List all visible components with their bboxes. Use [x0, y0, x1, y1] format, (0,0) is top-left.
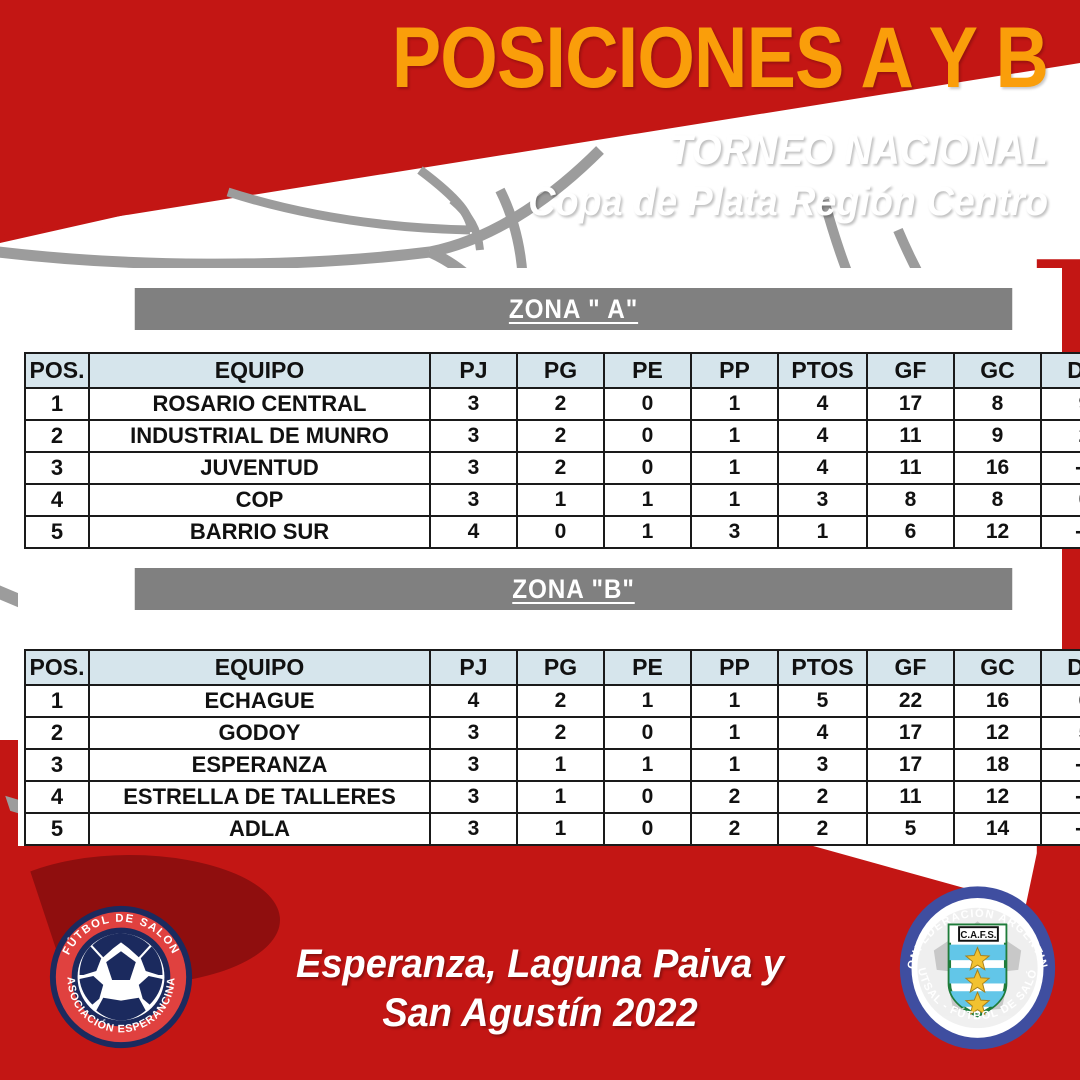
cell-pe: 0: [604, 388, 691, 420]
cell-pj: 3: [430, 781, 517, 813]
cell-pp: 1: [691, 452, 778, 484]
cell-pos: 3: [25, 452, 89, 484]
table-row: 4 COP 3 1 1 1 3 8 8 0: [25, 484, 1080, 516]
table-row: 2 GODOY 3 2 0 1 4 17 12 5: [25, 717, 1080, 749]
cell-pe: 0: [604, 452, 691, 484]
logo-right-shield-text: C.A.F.S.: [960, 930, 996, 941]
cell-pe: 0: [604, 813, 691, 845]
table-row: 4 ESTRELLA DE TALLERES 3 1 0 2 2 11 12 -…: [25, 781, 1080, 813]
cell-pe: 0: [604, 420, 691, 452]
cell-pp: 1: [691, 685, 778, 717]
cell-gc: 8: [954, 484, 1041, 516]
cell-gc: 12: [954, 717, 1041, 749]
page-title: POSICIONES A Y B: [392, 18, 1048, 100]
cell-ptos: 4: [778, 717, 867, 749]
cell-pos: 4: [25, 781, 89, 813]
col-header-team: EQUIPO: [89, 353, 430, 388]
cell-pos: 4: [25, 484, 89, 516]
cell-pe: 1: [604, 685, 691, 717]
col-header-pe: PE: [604, 353, 691, 388]
cell-team: ESPERANZA: [89, 749, 430, 781]
cell-pp: 3: [691, 516, 778, 548]
cell-pe: 1: [604, 749, 691, 781]
cell-pg: 1: [517, 484, 604, 516]
col-header-pj: PJ: [430, 650, 517, 685]
cell-pj: 3: [430, 484, 517, 516]
cell-pos: 5: [25, 516, 89, 548]
cell-ptos: 5: [778, 685, 867, 717]
table-row: 1 ECHAGUE 4 2 1 1 5 22 16 6: [25, 685, 1080, 717]
cell-pj: 3: [430, 813, 517, 845]
zone-b-header-row: POS. EQUIPO PJ PG PE PP PTOS GF GC DG: [25, 650, 1080, 685]
cell-ptos: 2: [778, 813, 867, 845]
cell-pp: 1: [691, 749, 778, 781]
cell-gc: 9: [954, 420, 1041, 452]
cell-gc: 14: [954, 813, 1041, 845]
cell-pos: 5: [25, 813, 89, 845]
table-row: 3 JUVENTUD 3 2 0 1 4 11 16 -5: [25, 452, 1080, 484]
cell-pos: 1: [25, 388, 89, 420]
cell-team: ECHAGUE: [89, 685, 430, 717]
cell-team: ESTRELLA DE TALLERES: [89, 781, 430, 813]
cell-ptos: 3: [778, 749, 867, 781]
cell-ptos: 1: [778, 516, 867, 548]
cell-team: COP: [89, 484, 430, 516]
col-header-pos: POS.: [25, 353, 89, 388]
cell-dg: 2: [1041, 420, 1080, 452]
cell-pg: 0: [517, 516, 604, 548]
zone-a-banner: ZONA " A": [135, 288, 1013, 330]
cell-pj: 4: [430, 685, 517, 717]
cell-gc: 12: [954, 781, 1041, 813]
col-header-team: EQUIPO: [89, 650, 430, 685]
cell-ptos: 4: [778, 452, 867, 484]
cell-team: JUVENTUD: [89, 452, 430, 484]
table-row: 1 ROSARIO CENTRAL 3 2 0 1 4 17 8 9: [25, 388, 1080, 420]
cell-pp: 2: [691, 813, 778, 845]
cell-pj: 3: [430, 717, 517, 749]
zone-b-banner: ZONA "B": [135, 568, 1013, 610]
cell-pg: 2: [517, 452, 604, 484]
cell-pos: 1: [25, 685, 89, 717]
cell-dg: -1: [1041, 781, 1080, 813]
cell-pg: 2: [517, 685, 604, 717]
cell-team: INDUSTRIAL DE MUNRO: [89, 420, 430, 452]
cell-pj: 3: [430, 749, 517, 781]
col-header-pp: PP: [691, 353, 778, 388]
cell-gf: 11: [867, 420, 954, 452]
table-row: 3 ESPERANZA 3 1 1 1 3 17 18 -1: [25, 749, 1080, 781]
cell-gc: 8: [954, 388, 1041, 420]
zone-b-table: POS. EQUIPO PJ PG PE PP PTOS GF GC DG 1 …: [24, 649, 1080, 846]
col-header-ptos: PTOS: [778, 353, 867, 388]
cell-ptos: 4: [778, 420, 867, 452]
cell-pos: 2: [25, 717, 89, 749]
zone-a-header-row: POS. EQUIPO PJ PG PE PP PTOS GF GC DG: [25, 353, 1080, 388]
footer-line-2: San Agustín 2022: [246, 989, 835, 1038]
cell-dg: -9: [1041, 813, 1080, 845]
cell-ptos: 4: [778, 388, 867, 420]
col-header-gf: GF: [867, 353, 954, 388]
cell-gf: 6: [867, 516, 954, 548]
cell-pg: 2: [517, 717, 604, 749]
cell-gf: 22: [867, 685, 954, 717]
cell-dg: 9: [1041, 388, 1080, 420]
cell-gc: 12: [954, 516, 1041, 548]
cell-dg: 5: [1041, 717, 1080, 749]
col-header-gc: GC: [954, 353, 1041, 388]
col-header-dg: DG: [1041, 353, 1080, 388]
cell-team: ADLA: [89, 813, 430, 845]
cell-pp: 1: [691, 388, 778, 420]
cell-pe: 0: [604, 717, 691, 749]
cell-gf: 17: [867, 749, 954, 781]
cell-team: ROSARIO CENTRAL: [89, 388, 430, 420]
cell-pe: 1: [604, 484, 691, 516]
cell-pp: 2: [691, 781, 778, 813]
cell-gf: 8: [867, 484, 954, 516]
poster-header: POSICIONES A Y B TORNEO NACIONAL Copa de…: [285, 18, 1048, 225]
cell-dg: -1: [1041, 749, 1080, 781]
table-row: 2 INDUSTRIAL DE MUNRO 3 2 0 1 4 11 9 2: [25, 420, 1080, 452]
cell-dg: 6: [1041, 685, 1080, 717]
standings-card: ZONA " A" POS. EQUIPO PJ PG PE PP PTOS G…: [18, 268, 1062, 846]
col-header-pg: PG: [517, 353, 604, 388]
cell-ptos: 3: [778, 484, 867, 516]
cell-gc: 16: [954, 452, 1041, 484]
cell-pe: 1: [604, 516, 691, 548]
cell-dg: 0: [1041, 484, 1080, 516]
asociacion-esperancina-logo: FÚTBOL DE SALON ASOCIACIÓN ESPERANCINA: [42, 896, 200, 1054]
col-header-gf: GF: [867, 650, 954, 685]
zone-a-table: POS. EQUIPO PJ PG PE PP PTOS GF GC DG 1 …: [24, 352, 1080, 549]
cell-gc: 18: [954, 749, 1041, 781]
table-row: 5 BARRIO SUR 4 0 1 3 1 6 12 -6: [25, 516, 1080, 548]
cell-pj: 3: [430, 420, 517, 452]
cell-pj: 4: [430, 516, 517, 548]
cell-pe: 0: [604, 781, 691, 813]
cell-pp: 1: [691, 717, 778, 749]
cell-pg: 2: [517, 420, 604, 452]
poster-root: POSICIONES A Y B TORNEO NACIONAL Copa de…: [0, 0, 1080, 1080]
col-header-dg: DG: [1041, 650, 1080, 685]
cell-pj: 3: [430, 388, 517, 420]
cell-gc: 16: [954, 685, 1041, 717]
cell-ptos: 2: [778, 781, 867, 813]
cell-gf: 17: [867, 717, 954, 749]
cell-gf: 5: [867, 813, 954, 845]
cell-pg: 1: [517, 749, 604, 781]
cell-pj: 3: [430, 452, 517, 484]
cell-pg: 2: [517, 388, 604, 420]
cell-team: BARRIO SUR: [89, 516, 430, 548]
cell-pp: 1: [691, 420, 778, 452]
table-row: 5 ADLA 3 1 0 2 2 5 14 -9: [25, 813, 1080, 845]
col-header-pg: PG: [517, 650, 604, 685]
cell-gf: 17: [867, 388, 954, 420]
zone-a-banner-label: ZONA " A": [509, 294, 638, 325]
subtitle-cup: Copa de Plata Región Centro: [346, 178, 1048, 225]
col-header-pos: POS.: [25, 650, 89, 685]
cell-pos: 3: [25, 749, 89, 781]
cell-pg: 1: [517, 781, 604, 813]
footer-line-1: Esperanza, Laguna Paiva y: [246, 940, 835, 989]
col-header-pj: PJ: [430, 353, 517, 388]
subtitle-tournament: TORNEO NACIONAL: [346, 126, 1048, 174]
cell-team: GODOY: [89, 717, 430, 749]
cell-gf: 11: [867, 781, 954, 813]
footer-location-text: Esperanza, Laguna Paiva y San Agustín 20…: [246, 940, 835, 1038]
col-header-pe: PE: [604, 650, 691, 685]
col-header-pp: PP: [691, 650, 778, 685]
cell-pg: 1: [517, 813, 604, 845]
col-header-ptos: PTOS: [778, 650, 867, 685]
cell-dg: -5: [1041, 452, 1080, 484]
zone-b-banner-label: ZONA "B": [512, 574, 634, 605]
cafs-logo: C.A.F.S. CONFEDERACIÓN ARGENTINA FUTSAL …: [895, 880, 1060, 1052]
cell-pp: 1: [691, 484, 778, 516]
cell-gf: 11: [867, 452, 954, 484]
col-header-gc: GC: [954, 650, 1041, 685]
cell-dg: -6: [1041, 516, 1080, 548]
cell-pos: 2: [25, 420, 89, 452]
